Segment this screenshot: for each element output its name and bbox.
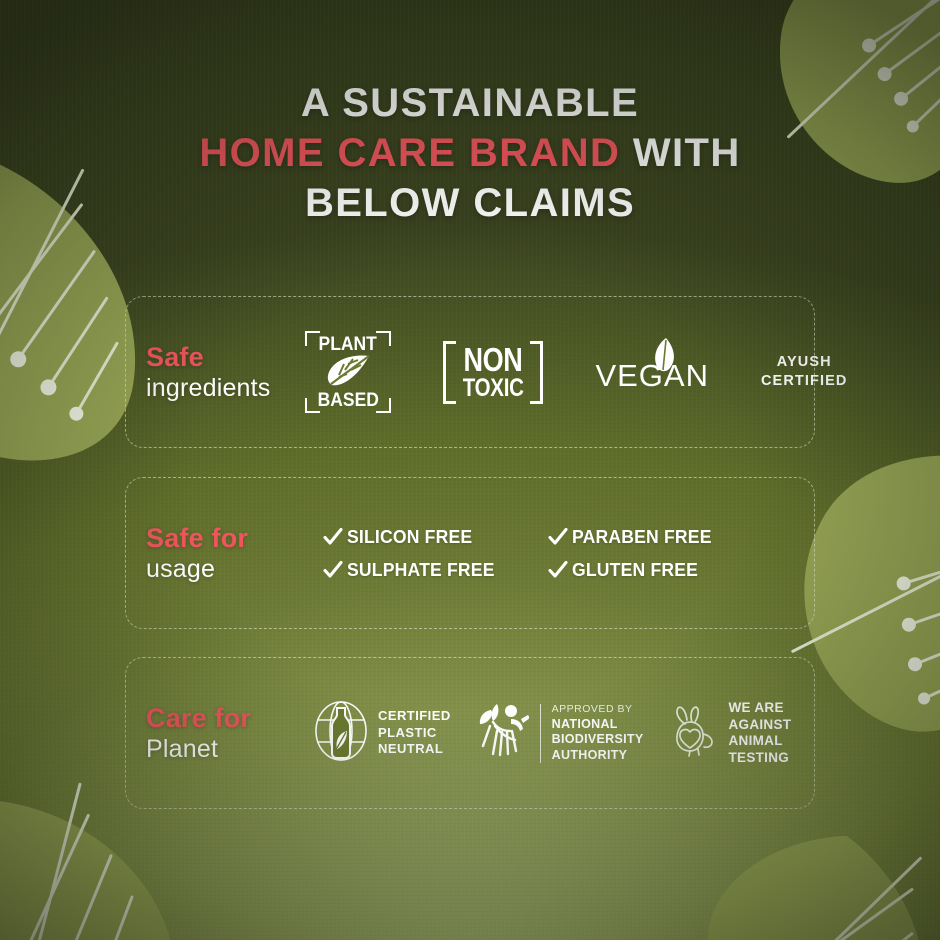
no-animal-testing-line2: ANIMAL TESTING (728, 733, 814, 766)
badge-vegan: VEGAN (595, 353, 709, 392)
plastic-neutral-text: CERTIFIED PLASTIC NEUTRAL (378, 708, 451, 758)
claims-card-usage: Safe for usage SILICON FREE (125, 477, 815, 629)
check-icon (323, 560, 343, 580)
headline-line-1: A SUSTAINABLE (0, 78, 940, 128)
card-label-planet: Care for Planet (126, 703, 301, 764)
poster-canvas: A SUSTAINABLE HOME CARE BRAND WITH BELOW… (0, 0, 940, 940)
check-label: PARABEN FREE (572, 526, 712, 548)
logo-certified-plastic-neutral: CERTIFIED PLASTIC NEUTRAL (313, 700, 451, 767)
claims-card-planet: Care for Planet (125, 657, 815, 809)
no-animal-testing-line1: WE ARE AGAINST (728, 700, 814, 733)
ingredient-badges: PLANT BASED (301, 331, 847, 413)
logo-divider (540, 704, 541, 763)
ayush-line2: CERTIFIED (761, 372, 847, 391)
biodiversity-line1: NATIONAL (552, 717, 644, 733)
claims-card-ingredients: Safe ingredients PLANT (125, 296, 815, 448)
headline-accent: HOME CARE BRAND (199, 131, 620, 175)
usage-claims: SILICON FREE SULPHATE FREE (301, 526, 814, 581)
card-label-line2: Planet (146, 734, 301, 764)
check-label: GLUTEN FREE (572, 559, 698, 581)
non-toxic-top: NON (464, 344, 523, 375)
logo-no-animal-testing: WE ARE AGAINST ANIMAL TESTING (669, 700, 814, 766)
no-animal-testing-text: WE ARE AGAINST ANIMAL TESTING (728, 700, 814, 766)
leaf-icon (325, 354, 371, 391)
globe-bottle-leaf-icon (313, 700, 369, 767)
check-column-1: SILICON FREE SULPHATE FREE (323, 526, 502, 581)
badge-ayush-certified: AYUSH CERTIFIED (761, 353, 847, 391)
list-item: SILICON FREE (323, 526, 502, 548)
card-label-line1: Care for (146, 703, 301, 734)
check-label: SILICON FREE (347, 526, 472, 548)
plastic-neutral-line2: PLASTIC (378, 725, 451, 742)
non-toxic-bottom: TOXIC (463, 375, 524, 401)
headline-line-3: BELOW CLAIMS (0, 178, 940, 228)
rabbit-heart-icon (669, 704, 719, 763)
plastic-neutral-line3: NEUTRAL (378, 741, 451, 758)
headline-line-2-rest: WITH (620, 131, 740, 175)
badge-plant-based: PLANT BASED (305, 331, 391, 413)
biodiversity-emblem-icon (477, 702, 529, 765)
card-label-line2: usage (146, 554, 301, 584)
check-icon (548, 527, 568, 547)
biodiversity-approved-by: APPROVED BY (552, 703, 644, 717)
leaf-icon (654, 337, 678, 378)
biodiversity-line3: AUTHORITY (552, 748, 644, 764)
list-item: PARABEN FREE (548, 526, 719, 548)
vegan-label: VEGAN (595, 358, 709, 393)
decorative-leaf-bottom-right (684, 814, 940, 940)
card-label-usage: Safe for usage (126, 523, 301, 584)
card-label-ingredients: Safe ingredients (126, 342, 301, 403)
list-item: GLUTEN FREE (548, 559, 719, 581)
biodiversity-line2: BIODIVERSITY (552, 732, 644, 748)
check-icon (323, 527, 343, 547)
plant-based-top: PLANT (319, 335, 377, 354)
card-label-line1: Safe (146, 342, 301, 373)
planet-logos: CERTIFIED PLASTIC NEUTRAL (301, 700, 814, 767)
check-label: SULPHATE FREE (347, 559, 495, 581)
card-label-line1: Safe for (146, 523, 301, 554)
headline-line-2: HOME CARE BRAND WITH (0, 128, 940, 178)
page-title: A SUSTAINABLE HOME CARE BRAND WITH BELOW… (0, 78, 940, 228)
check-icon (548, 560, 568, 580)
plant-based-bottom: BASED (317, 391, 378, 410)
card-label-line2: ingredients (146, 373, 301, 403)
plastic-neutral-line1: CERTIFIED (378, 708, 451, 725)
badge-non-toxic: NON TOXIC (443, 341, 543, 404)
check-column-2: PARABEN FREE GLUTEN FREE (548, 526, 719, 581)
biodiversity-text: APPROVED BY NATIONAL BIODIVERSITY AUTHOR… (552, 703, 644, 763)
logo-national-biodiversity-authority: APPROVED BY NATIONAL BIODIVERSITY AUTHOR… (477, 702, 644, 765)
ayush-line1: AYUSH (761, 353, 847, 372)
list-item: SULPHATE FREE (323, 559, 502, 581)
